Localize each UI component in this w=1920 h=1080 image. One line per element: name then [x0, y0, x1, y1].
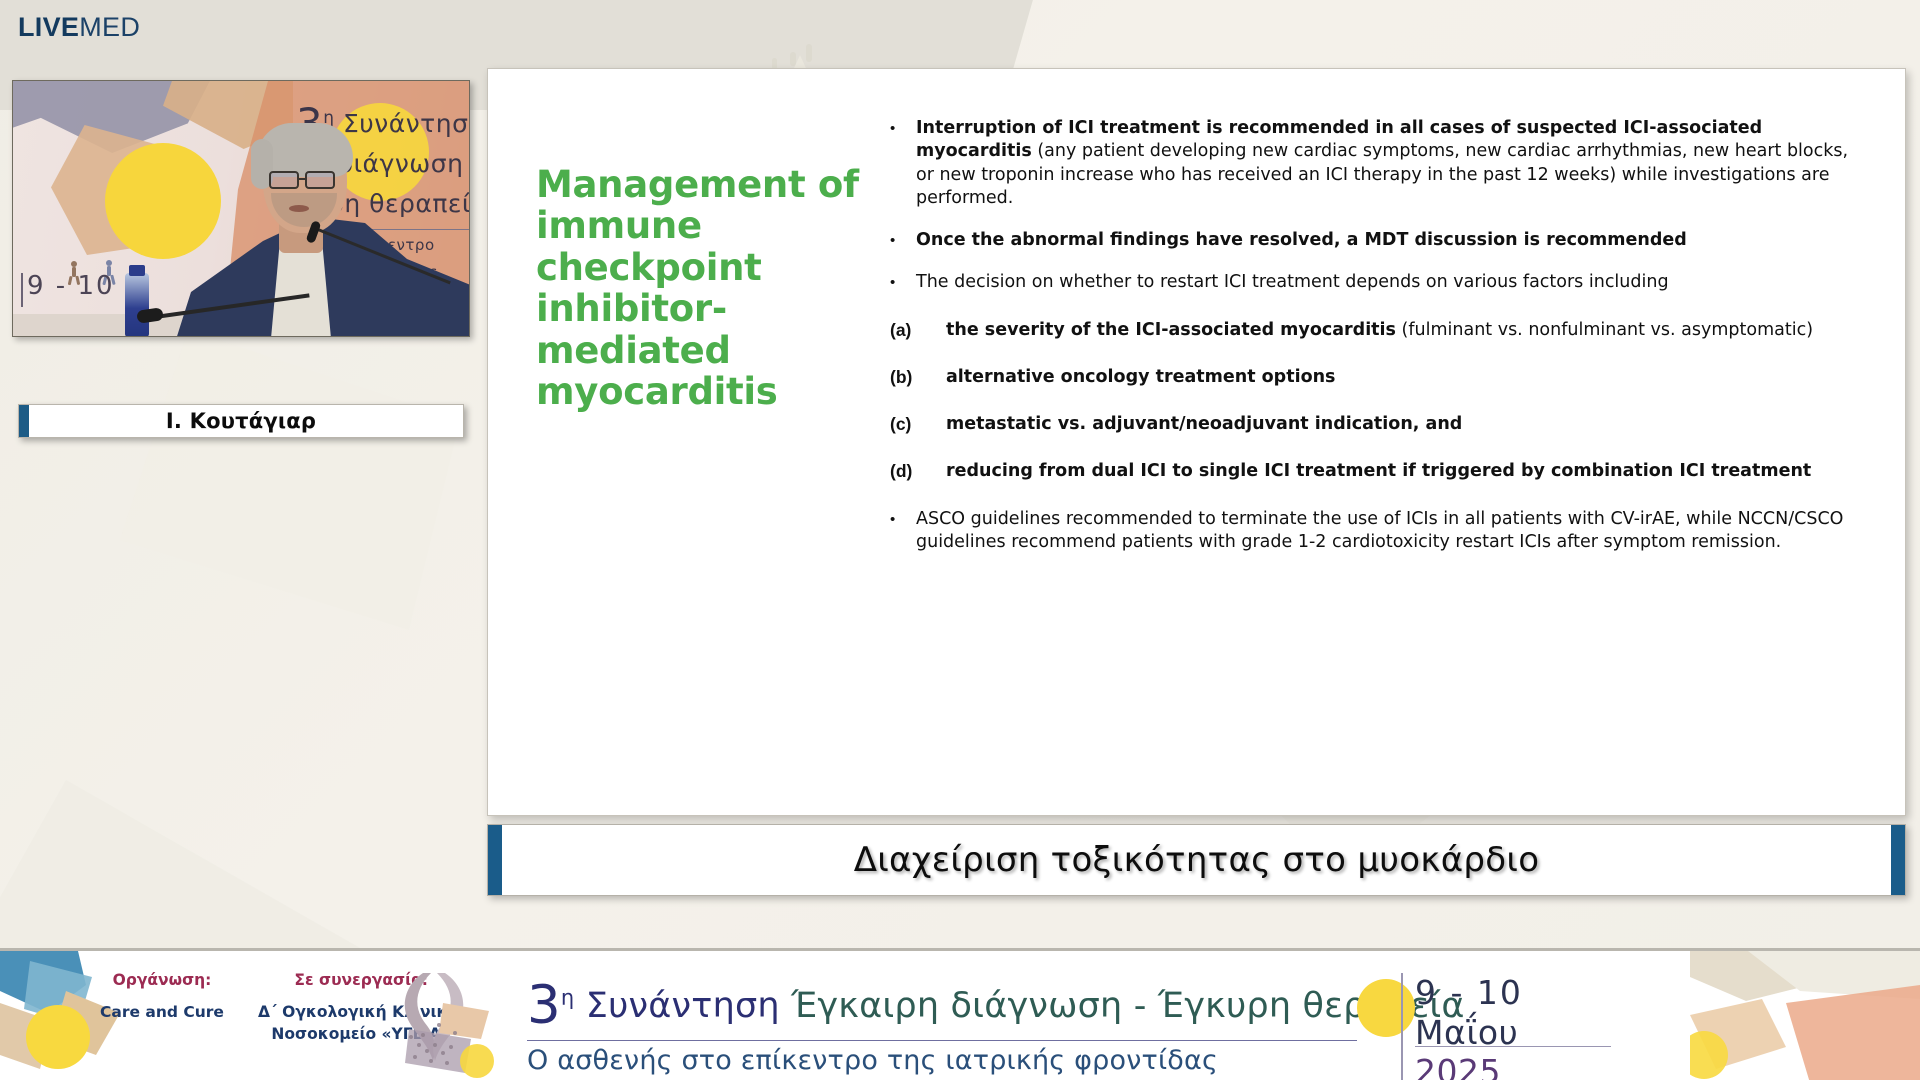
bullet-text: The decision on whether to restart ICI t…	[916, 271, 1857, 294]
bullet-marker: •	[890, 229, 916, 252]
conference-divider	[527, 1040, 1357, 1041]
backdrop-divider	[358, 229, 470, 230]
speaker-glasses-left	[269, 171, 299, 189]
letter-bold-text: reducing from dual ICI to single ICI tre…	[946, 461, 1811, 481]
water-bottle-cap	[129, 265, 145, 276]
organizer-column: Οργάνωση: Care and Cure	[100, 971, 224, 1046]
backdrop-line-3: ρη θεραπεία	[328, 189, 470, 218]
letter-marker: (c)	[890, 413, 946, 436]
bullet-text: Once the abnormal findings have resolved…	[916, 229, 1857, 252]
date-sun-icon	[1357, 979, 1415, 1037]
slide-lettered-item: (d) reducing from dual ICI to single ICI…	[890, 460, 1857, 483]
conference-number-suffix: η	[561, 985, 575, 1009]
bullet-rest-text: (any patient developing new cardiac symp…	[916, 141, 1848, 208]
organizers-block: Οργάνωση: Care and Cure Σε συνεργασία: Δ…	[100, 971, 370, 1046]
conference-number: 3	[527, 975, 561, 1036]
speaker-name: Ι. Κουτάγιαρ	[29, 409, 463, 433]
background-speck	[806, 44, 812, 62]
livemed-logo[interactable]: LIVEMED	[18, 14, 140, 41]
letter-marker: (b)	[890, 366, 946, 389]
conference-month-year: Μαΐου 2025	[1415, 1013, 1615, 1080]
logo-live-text: LIVE	[18, 12, 79, 42]
letter-text: the severity of the ICI-associated myoca…	[946, 319, 1857, 342]
bullet-marker: •	[890, 271, 916, 294]
letter-rest-text: (fulminant vs. nonfulminant vs. asymptom…	[1396, 320, 1813, 340]
letter-text: reducing from dual ICI to single ICI tre…	[946, 460, 1857, 483]
conference-subtitle: Ο ασθενής στο επίκεντρο της ιατρικής φρο…	[527, 1045, 1407, 1076]
letter-marker: (d)	[890, 460, 946, 483]
app-root: LIVEMED 3η Συνάντηση η διάγνωση - ρη θερ…	[0, 0, 1920, 1080]
backdrop-date-divider	[21, 273, 23, 307]
letter-bold-text: the severity of the ICI-associated myoca…	[946, 320, 1396, 340]
conference-title-line-1: 3η Συνάντηση Έγκαιρη διάγνωση - Έγκυρη θ…	[527, 975, 1407, 1036]
caption-text: Διαχείριση τοξικότητας στο μυοκάρδιο	[502, 840, 1891, 880]
slide-caption-bar: Διαχείριση τοξικότητας στο μυοκάρδιο	[487, 824, 1906, 896]
letter-text: alternative oncology treatment options	[946, 366, 1857, 389]
speaker-glasses-right	[305, 171, 335, 189]
conference-month: Μαΐου	[1415, 1013, 1518, 1052]
speaker-glasses-bridge	[299, 178, 307, 180]
bullet-text: Interruption of ICI treatment is recomme…	[916, 117, 1857, 210]
bullet-rest-text: The decision on whether to restart ICI t…	[916, 272, 1669, 292]
slide-title: Management of immune checkpoint inhibito…	[536, 164, 878, 413]
bullet-marker: •	[890, 508, 916, 555]
letter-bold-text: alternative oncology treatment options	[946, 367, 1335, 387]
conference-title: 3η Συνάντηση Έγκαιρη διάγνωση - Έγκυρη θ…	[527, 975, 1407, 1076]
slide-lettered-item: (a) the severity of the ICI-associated m…	[890, 319, 1857, 342]
slide-title-column: Management of immune checkpoint inhibito…	[488, 69, 878, 815]
conference-date-block: 9 - 10 Μαΐου 2025	[1405, 973, 1615, 1080]
slide-lettered-item: (c) metastatic vs. adjuvant/neoadjuvant …	[890, 413, 1857, 436]
letter-marker: (a)	[890, 319, 946, 342]
conference-footer: Οργάνωση: Care and Cure Σε συνεργασία: Δ…	[0, 948, 1920, 1080]
slide-bullet: • The decision on whether to restart ICI…	[890, 271, 1857, 294]
letter-text: metastatic vs. adjuvant/neoadjuvant indi…	[946, 413, 1857, 436]
presentation-slide[interactable]: Management of immune checkpoint inhibito…	[487, 68, 1906, 816]
speaker-video[interactable]: 3η Συνάντηση η διάγνωση - ρη θεραπεία ίκ…	[12, 80, 470, 337]
bullet-bold-text: Once the abnormal findings have resolved…	[916, 230, 1687, 250]
slide-body-column: • Interruption of ICI treatment is recom…	[878, 69, 1905, 815]
slide-bullet: • ASCO guidelines recommended to termina…	[890, 508, 1857, 555]
footer-decoration-right	[1690, 951, 1920, 1080]
letter-bold-text: metastatic vs. adjuvant/neoadjuvant indi…	[946, 414, 1462, 434]
nameplate-accent-bar	[19, 405, 29, 437]
logo-med-text: MED	[79, 12, 140, 42]
backdrop-dates: 9 - 10	[27, 271, 115, 301]
slide-bullet: • Interruption of ICI treatment is recom…	[890, 117, 1857, 210]
slide-bullet: • Once the abnormal findings have resolv…	[890, 229, 1857, 252]
bullet-rest-text: ASCO guidelines recommended to terminate…	[916, 509, 1843, 552]
conference-days: 9 - 10	[1415, 973, 1615, 1012]
speaker-nameplate: Ι. Κουτάγιαρ	[18, 404, 464, 438]
awareness-ribbon-icon	[385, 967, 525, 1079]
conference-meeting-word: Συνάντηση	[586, 986, 780, 1026]
backdrop-sun-icon	[105, 143, 221, 259]
speaker-mouth	[289, 205, 309, 212]
background-speck	[790, 52, 796, 66]
caption-accent-left	[488, 825, 502, 895]
water-bottle	[125, 273, 149, 337]
conference-year: 2025	[1415, 1052, 1501, 1080]
background-shape-mid-left	[120, 330, 460, 630]
caption-accent-right	[1891, 825, 1905, 895]
video-frame: 3η Συνάντηση η διάγνωση - ρη θεραπεία ίκ…	[13, 81, 469, 336]
date-divider-vertical	[1401, 973, 1403, 1080]
slide-lettered-item: (b) alternative oncology treatment optio…	[890, 366, 1857, 389]
bullet-marker: •	[890, 117, 916, 210]
backdrop-line-1: Συνάντηση	[343, 109, 470, 138]
organizer-name: Care and Cure	[100, 1001, 224, 1023]
organizer-heading: Οργάνωση:	[100, 971, 224, 989]
bullet-text: ASCO guidelines recommended to terminate…	[916, 508, 1857, 555]
